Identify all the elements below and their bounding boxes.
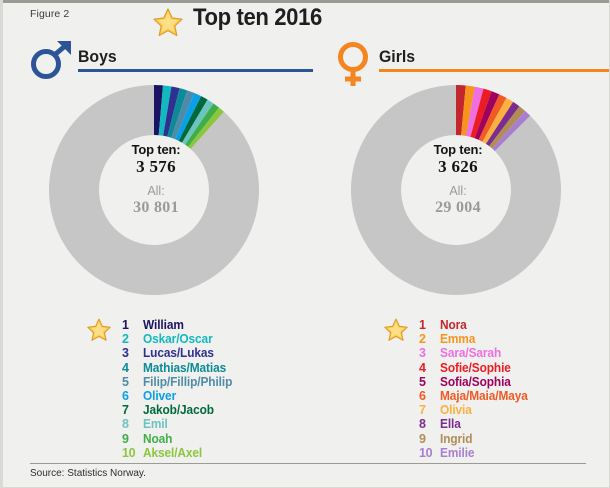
- list-item: 9Ingrid: [419, 432, 532, 446]
- list-item-rank: 2: [419, 332, 440, 346]
- list-item-name: Emma: [440, 332, 475, 346]
- list-item-name: Olivia: [440, 403, 472, 417]
- boys-all-label: All:: [76, 183, 236, 199]
- page-title: Top ten 2016: [193, 4, 322, 32]
- list-item-name: Emil: [143, 417, 168, 431]
- list-item-rank: 8: [419, 417, 440, 431]
- list-item: 8Ella: [419, 417, 532, 431]
- list-item: 1William: [122, 318, 237, 332]
- girls-center-text: Top ten: 3 626 All: 29 004: [378, 142, 538, 217]
- list-item-name: William: [143, 318, 184, 332]
- girls-topten-label: Top ten:: [378, 142, 538, 157]
- list-item: 5Sofia/Sophia: [419, 375, 532, 389]
- boys-label: Boys: [78, 47, 117, 67]
- list-item-rank: 4: [122, 361, 143, 375]
- boys-donut-chart: Top ten: 3 576 All: 30 801: [41, 80, 271, 302]
- male-symbol-icon: [30, 40, 76, 85]
- boys-name-list: 1William2Oskar/Oscar3Lucas/Lukas4Mathias…: [122, 318, 237, 460]
- list-item-name: Aksel/Axel: [143, 446, 202, 460]
- list-item-name: Noah: [143, 432, 172, 446]
- list-item-rank: 9: [122, 432, 143, 446]
- list-item-name: Oliver: [143, 389, 176, 403]
- list-item-name: Mathias/Matias: [143, 361, 226, 375]
- list-item-name: Maja/Maia/Maya: [440, 389, 528, 403]
- girls-all-value: 29 004: [378, 199, 538, 217]
- list-item-rank: 3: [122, 346, 143, 360]
- list-item-name: Sara/Sarah: [440, 346, 501, 360]
- list-item: 4Mathias/Matias: [122, 361, 237, 375]
- list-item-name: Ingrid: [440, 432, 472, 446]
- list-item: 10Aksel/Axel: [122, 446, 237, 460]
- boys-center-text: Top ten: 3 576 All: 30 801: [76, 142, 236, 217]
- list-item-name: Nora: [440, 318, 467, 332]
- list-item: 4Sofie/Sophie: [419, 361, 532, 375]
- list-item: 1Nora: [419, 318, 532, 332]
- list-item-rank: 7: [122, 403, 143, 417]
- top-divider: [3, 0, 610, 3]
- list-item: 5Filip/Fillip/Philip: [122, 375, 237, 389]
- list-item-rank: 5: [419, 375, 440, 389]
- list-item-name: Sofie/Sophie: [440, 361, 511, 375]
- list-item: 7Olivia: [419, 403, 532, 417]
- list-item-name: Emilie: [440, 446, 474, 460]
- list-item-rank: 8: [122, 417, 143, 431]
- boys-underline: [78, 69, 313, 72]
- list-item-rank: 5: [122, 375, 143, 389]
- list-item-name: Sofia/Sophia: [440, 375, 511, 389]
- list-item-name: Filip/Fillip/Philip: [143, 375, 232, 389]
- list-item-rank: 1: [122, 318, 143, 332]
- source-note: Source: Statistics Norway.: [30, 468, 146, 479]
- list-item: 3Sara/Sarah: [419, 346, 532, 360]
- list-item-rank: 2: [122, 332, 143, 346]
- girls-all-label: All:: [378, 183, 538, 199]
- list-item-rank: 1: [419, 318, 440, 332]
- girls-label: Girls: [379, 47, 415, 67]
- girls-underline: [379, 69, 610, 72]
- list-item-name: Ella: [440, 417, 461, 431]
- boys-topten-value: 3 576: [76, 157, 236, 176]
- girls-topten-value: 3 626: [378, 157, 538, 176]
- infographic-page: Figure 2 Top ten 2016 Boys Top ten: 3 57…: [0, 0, 610, 488]
- bottom-divider: [30, 463, 586, 464]
- list-item-rank: 4: [419, 361, 440, 375]
- list-item: 6Maja/Maia/Maya: [419, 389, 532, 403]
- list-item-rank: 6: [419, 389, 440, 403]
- list-item: 6Oliver: [122, 389, 237, 403]
- list-item-rank: 7: [419, 403, 440, 417]
- list-item-rank: 10: [419, 446, 440, 460]
- girls-name-list: 1Nora2Emma3Sara/Sarah4Sofie/Sophie5Sofia…: [419, 318, 532, 460]
- boys-all-value: 30 801: [76, 199, 236, 217]
- list-item-name: Jakob/Jacob: [143, 403, 214, 417]
- list-item-name: Oskar/Oscar: [143, 332, 213, 346]
- figure-label: Figure 2: [30, 8, 69, 20]
- boys-topten-label: Top ten:: [76, 142, 236, 157]
- list-item: 2Oskar/Oscar: [122, 332, 237, 346]
- list-item-rank: 3: [419, 346, 440, 360]
- list-item: 3Lucas/Lukas: [122, 346, 237, 360]
- list-item: 7Jakob/Jacob: [122, 403, 237, 417]
- list-item: 10Emilie: [419, 446, 532, 460]
- list-item-rank: 9: [419, 432, 440, 446]
- list-item-name: Lucas/Lukas: [143, 346, 214, 360]
- list-item: 8Emil: [122, 417, 237, 431]
- list-item: 2Emma: [419, 332, 532, 346]
- girls-donut-chart: Top ten: 3 626 All: 29 004: [343, 80, 573, 302]
- list-item-rank: 10: [122, 446, 143, 460]
- list-item-rank: 6: [122, 389, 143, 403]
- list-item: 9Noah: [122, 432, 237, 446]
